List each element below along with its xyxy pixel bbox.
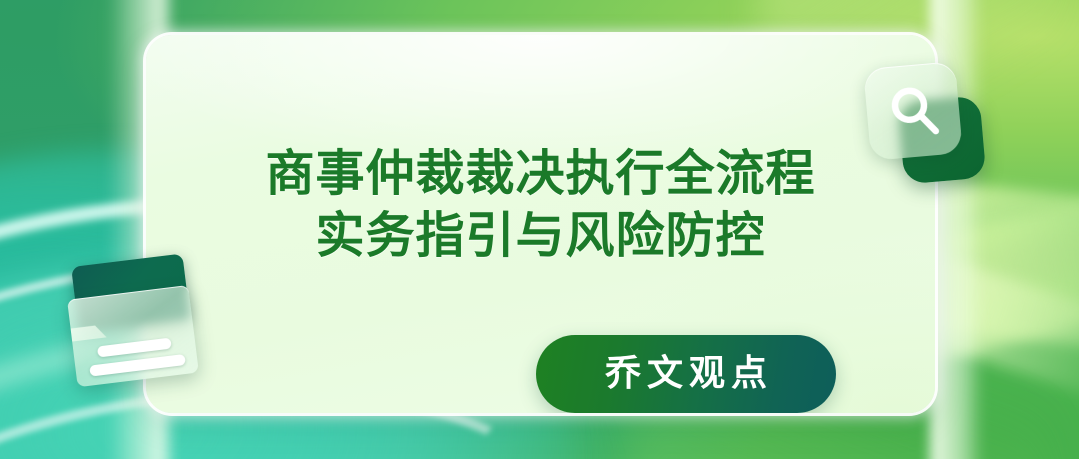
brand-badge[interactable]: 乔文观点 xyxy=(536,335,836,413)
folder-tab xyxy=(70,319,128,342)
title-line-1: 商事仲裁裁决执行全流程 xyxy=(146,143,935,205)
folder-front-panel xyxy=(67,285,199,387)
folder-line-two xyxy=(89,354,186,377)
title-line-2: 实务指引与风险防控 xyxy=(146,205,935,267)
content-card: 商事仲裁裁决执行全流程 实务指引与风险防控 乔文观点 xyxy=(146,35,935,413)
search-icon xyxy=(865,63,987,187)
page-title: 商事仲裁裁决执行全流程 实务指引与风险防控 xyxy=(146,143,935,267)
magnifier-glyph xyxy=(886,82,945,142)
folder-back-panel xyxy=(71,254,190,333)
brand-badge-label: 乔文观点 xyxy=(599,356,773,392)
search-icon-back-tile xyxy=(898,96,987,185)
folder-line-one xyxy=(97,338,172,358)
search-icon-front-tile xyxy=(863,61,963,161)
folder-icon xyxy=(63,251,203,389)
promotional-banner: 商事仲裁裁决执行全流程 实务指引与风险防控 乔文观点 xyxy=(0,0,1079,459)
